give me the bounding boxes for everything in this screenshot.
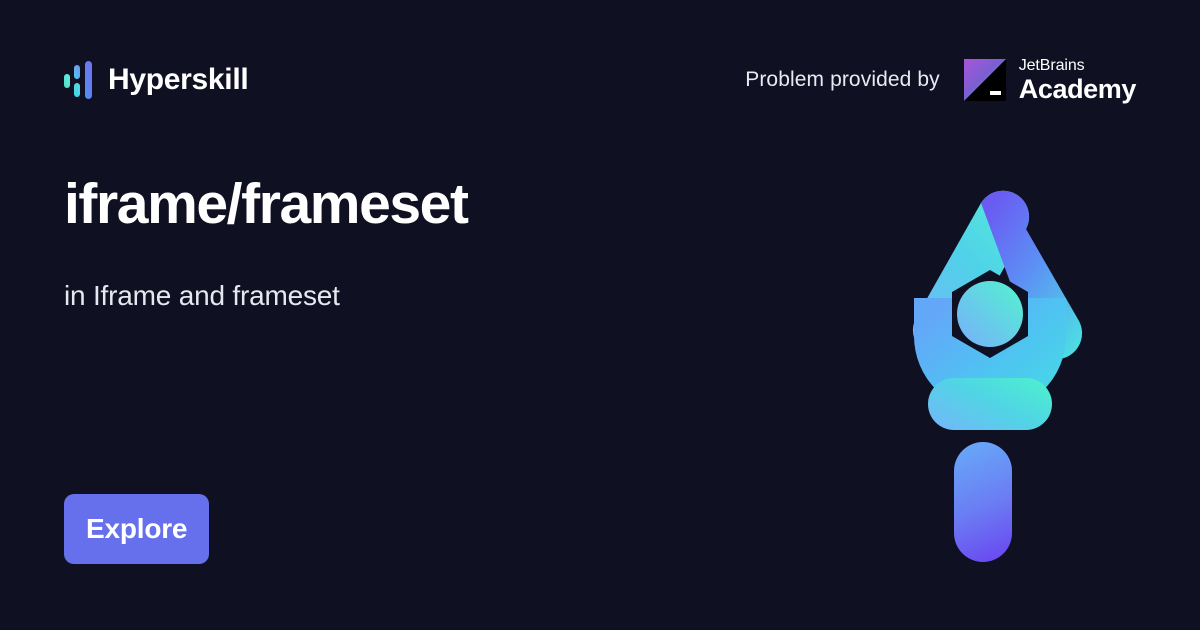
card-body: iframe/frameset in Iframe and frameset E… <box>64 160 864 600</box>
provided-by-block: Problem provided by <box>745 58 1136 103</box>
jetbrains-academy-lockup[interactable]: JetBrains Academy <box>964 58 1136 103</box>
explore-button[interactable]: Explore <box>64 494 209 564</box>
jetbrains-academy-text: JetBrains Academy <box>1019 58 1136 103</box>
hyperskill-torch-emblem-icon <box>880 170 1100 570</box>
share-card: Hyperskill Problem provided by <box>0 0 1200 630</box>
hyperskill-brand[interactable]: Hyperskill <box>64 58 248 102</box>
card-header: Hyperskill Problem provided by <box>0 0 1200 160</box>
page-title: iframe/frameset <box>64 174 864 236</box>
hyperskill-logo-icon <box>64 58 94 102</box>
page-subtitle: in Iframe and frameset <box>64 280 864 312</box>
jetbrains-logo-icon <box>964 59 1006 101</box>
hyperskill-wordmark: Hyperskill <box>108 65 248 95</box>
jetbrains-label: JetBrains <box>1019 58 1085 74</box>
provided-by-label: Problem provided by <box>745 68 940 92</box>
academy-label: Academy <box>1019 76 1136 103</box>
